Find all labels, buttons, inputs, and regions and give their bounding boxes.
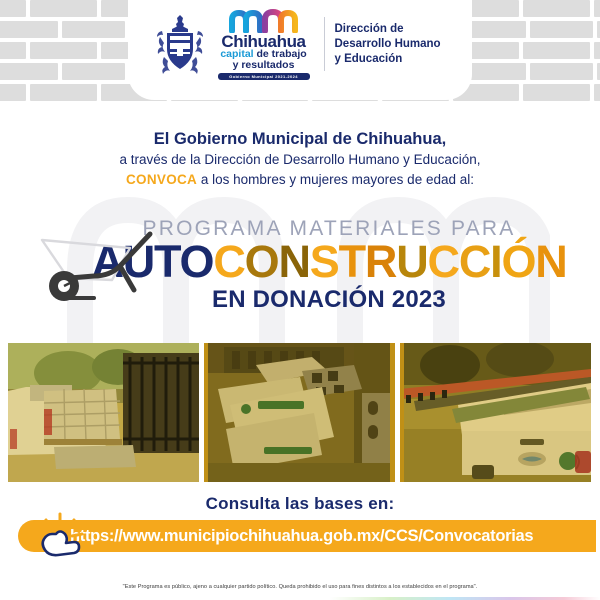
photo-yellow-tint	[204, 343, 395, 482]
brick	[30, 42, 96, 59]
department-line-1: Dirección de	[335, 22, 445, 37]
disclaimer-text: "Este Programa es público, ajeno a cualq…	[123, 584, 478, 590]
title-letter: C	[428, 236, 459, 287]
title-letter: C	[213, 236, 244, 287]
title-letter: N	[535, 236, 566, 287]
brick	[0, 63, 58, 80]
brick	[30, 0, 96, 17]
logo-tagline-line1: capital de trabajo	[214, 49, 314, 60]
brick	[0, 84, 26, 101]
title-letter: Ó	[501, 236, 535, 287]
coat-of-arms-icon	[156, 13, 204, 75]
wheelbarrow-icon	[34, 228, 204, 310]
title-letter: I	[490, 236, 501, 287]
brick	[530, 21, 593, 38]
convocation-line-1: El Gobierno Municipal de Chihuahua,	[0, 128, 600, 150]
convoca-keyword: CONVOCA	[126, 172, 197, 187]
convocation-line-2: a través de la Dirección de Desarrollo H…	[0, 150, 600, 170]
department-line-2: Desarrollo Humano	[335, 37, 445, 52]
convocation-line-3-rest: a los hombres y mujeres mayores de edad …	[197, 172, 474, 187]
brick	[0, 0, 26, 17]
brick	[62, 63, 125, 80]
brick	[523, 0, 589, 17]
title-letter: S	[310, 236, 339, 287]
convocation-text-block: El Gobierno Municipal de Chihuahua, a tr…	[0, 128, 600, 190]
title-letter: T	[339, 236, 365, 287]
brick	[523, 42, 589, 59]
brick	[530, 63, 593, 80]
title-construccion: CONSTRUCCIÓN	[213, 236, 566, 287]
brick	[62, 21, 125, 38]
title-letter: O	[245, 236, 279, 287]
chihuahua-peaks-logo	[227, 9, 301, 33]
brick	[594, 0, 600, 17]
photo-truck-with-blocks	[8, 343, 199, 482]
cta-label: Consulta las bases en:	[0, 494, 600, 514]
logo-tagline-capital: capital	[220, 48, 253, 60]
title-letter: U	[396, 236, 427, 287]
header-logo-card: Chihuahua capital de trabajo y resultado…	[128, 0, 472, 100]
brick	[463, 21, 526, 38]
photo-yellow-tint	[400, 343, 591, 482]
url-text[interactable]: https://www.municipiochihuahua.gob.mx/CC…	[70, 527, 533, 546]
title-letter: R	[365, 236, 396, 287]
title-letter: N	[278, 236, 309, 287]
url-bar[interactable]: https://www.municipiochihuahua.gob.mx/CC…	[18, 520, 596, 552]
department-name: Dirección de Desarrollo Humano y Educaci…	[335, 22, 445, 67]
photo-truck-with-beam	[400, 343, 591, 482]
header-divider	[324, 17, 325, 71]
brick	[0, 42, 26, 59]
brick	[594, 42, 600, 59]
logo-wordmark: Chihuahua	[214, 34, 314, 49]
convocation-line-3: CONVOCA a los hombres y mujeres mayores …	[0, 170, 600, 190]
photo-yellow-tint	[8, 343, 199, 482]
brick	[30, 84, 96, 101]
logo-tagline-line2: y resultados	[214, 60, 314, 71]
photo-cement-bags	[204, 343, 395, 482]
chihuahua-brand-logo: Chihuahua capital de trabajo y resultado…	[214, 9, 314, 80]
department-line-3: y Educación	[335, 52, 445, 67]
click-hand-icon	[32, 512, 90, 568]
brick	[523, 84, 589, 101]
program-title-block: PROGRAMA MATERIALES PARA AUTOCONSTRUCCIÓ…	[0, 218, 600, 314]
brick	[0, 21, 58, 38]
brick	[594, 84, 600, 101]
brick	[463, 63, 526, 80]
photo-strip	[8, 343, 592, 482]
logo-government-bar: Gobierno Municipal 2021-2024	[218, 73, 310, 80]
logo-tagline-rest: de trabajo	[254, 48, 307, 60]
title-letter: C	[459, 236, 490, 287]
